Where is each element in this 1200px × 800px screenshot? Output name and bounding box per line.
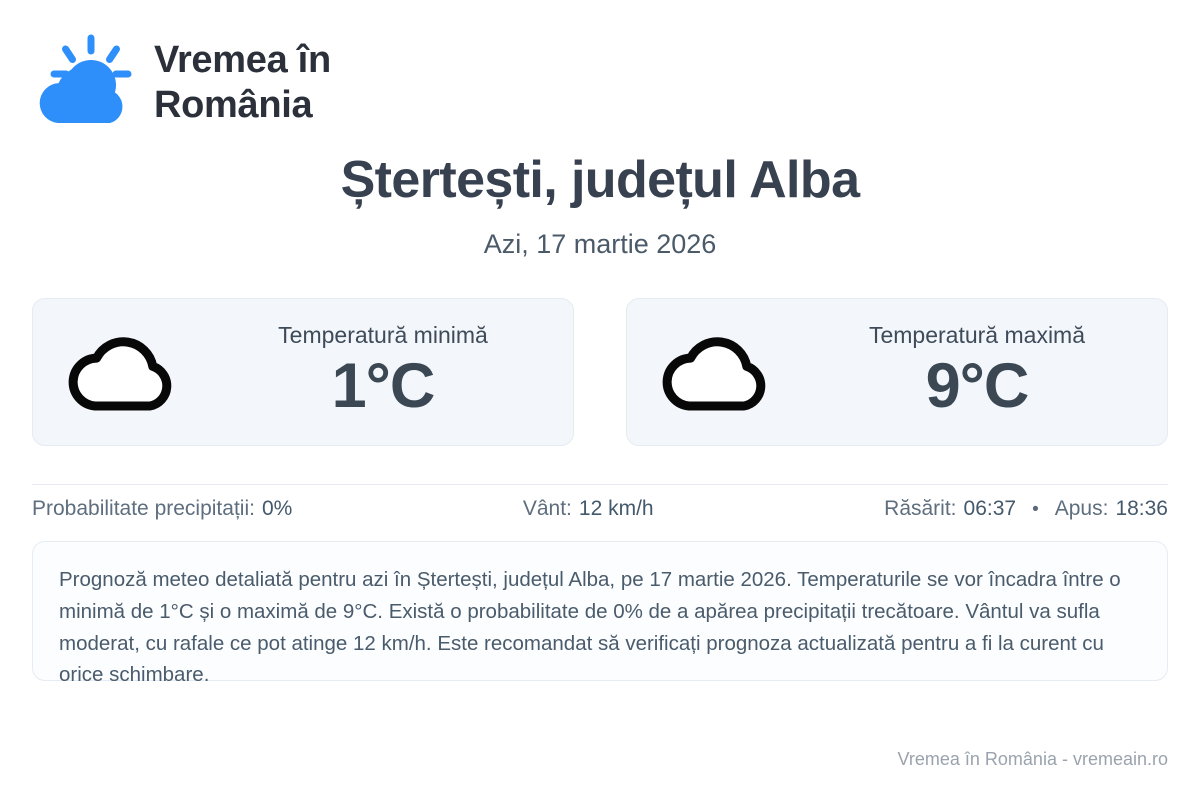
brand-line-1: Vremea în [154,38,331,83]
precipitation-stat: Probabilitate precipitații: 0% [32,497,292,521]
min-temperature-info: Temperatură minimă 1°C [207,323,559,421]
weather-page: Vremea în România Ștertești, județul Alb… [0,0,1200,800]
min-temperature-value: 1°C [332,351,435,422]
weather-stats-row: Probabilitate precipitații: 0% Vânt: 12 … [32,485,1168,533]
cloud-icon [61,326,185,418]
sunrise-value: 06:37 [964,497,1017,521]
forecast-description-text: Prognoză meteo detaliată pentru azi în Ș… [59,564,1141,691]
max-temperature-card: Temperatură maximă 9°C [626,298,1168,446]
max-temperature-value: 9°C [926,351,1029,422]
precipitation-label: Probabilitate precipitații: [32,497,255,521]
sun-times-separator: • [1023,499,1048,521]
sun-behind-cloud-icon [32,31,136,135]
sunset-label: Apus: [1055,497,1109,521]
max-temperature-info: Temperatură maximă 9°C [801,323,1153,421]
cloud-icon [655,326,779,418]
page-title: Ștertești, județul Alba [32,152,1168,209]
wind-value: 12 km/h [579,497,654,521]
max-temperature-label: Temperatură maximă [869,323,1085,348]
temperature-cards: Temperatură minimă 1°C Temperatură maxim… [32,298,1168,446]
wind-stat: Vânt: 12 km/h [292,497,884,521]
sun-times-stat: Răsărit: 06:37 • Apus: 18:36 [884,497,1168,521]
title-block: Ștertești, județul Alba Azi, 17 martie 2… [32,152,1168,260]
site-brand[interactable]: Vremea în România [32,0,1168,118]
sunrise-label: Răsărit: [884,497,956,521]
min-temperature-label: Temperatură minimă [278,323,488,348]
footer-credit: Vremea în România - vremeain.ro [898,749,1168,770]
min-temperature-card: Temperatură minimă 1°C [32,298,574,446]
page-subtitle: Azi, 17 martie 2026 [32,229,1168,260]
wind-label: Vânt: [523,497,572,521]
brand-line-2: România [154,83,331,128]
forecast-description-box: Prognoză meteo detaliată pentru azi în Ș… [32,541,1168,681]
brand-text: Vremea în România [154,38,331,128]
sunset-value: 18:36 [1115,497,1168,521]
precipitation-value: 0% [262,497,292,521]
